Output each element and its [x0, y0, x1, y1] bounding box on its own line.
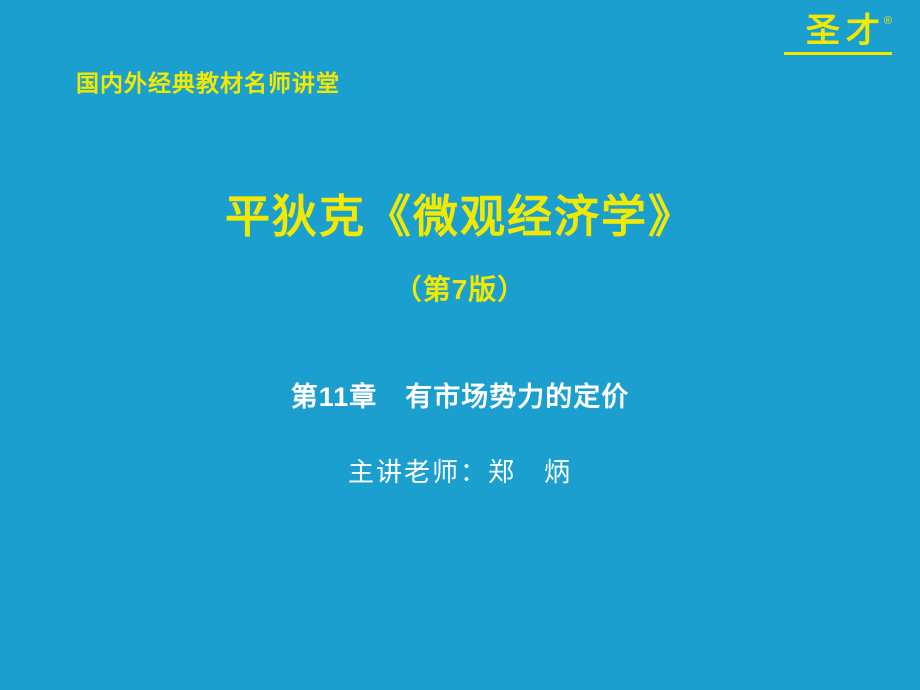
brand-logo-text: 圣才	[806, 14, 886, 48]
edition-label: （第7版）	[0, 268, 920, 308]
chapter-title: 第11章 有市场势力的定价	[0, 375, 920, 414]
lecturer-name: 主讲老师：郑 炳	[0, 452, 920, 489]
series-heading: 国内外经典教材名师讲堂	[76, 64, 340, 98]
brand-logo: 圣才®	[784, 14, 892, 55]
registered-trademark-icon: ®	[884, 16, 892, 27]
brand-logo-underline	[784, 52, 892, 55]
page-title: 平狄克《微观经济学》	[0, 180, 920, 245]
presentation-slide: 圣才® 国内外经典教材名师讲堂 平狄克《微观经济学》 （第7版） 第11章 有市…	[0, 0, 920, 690]
